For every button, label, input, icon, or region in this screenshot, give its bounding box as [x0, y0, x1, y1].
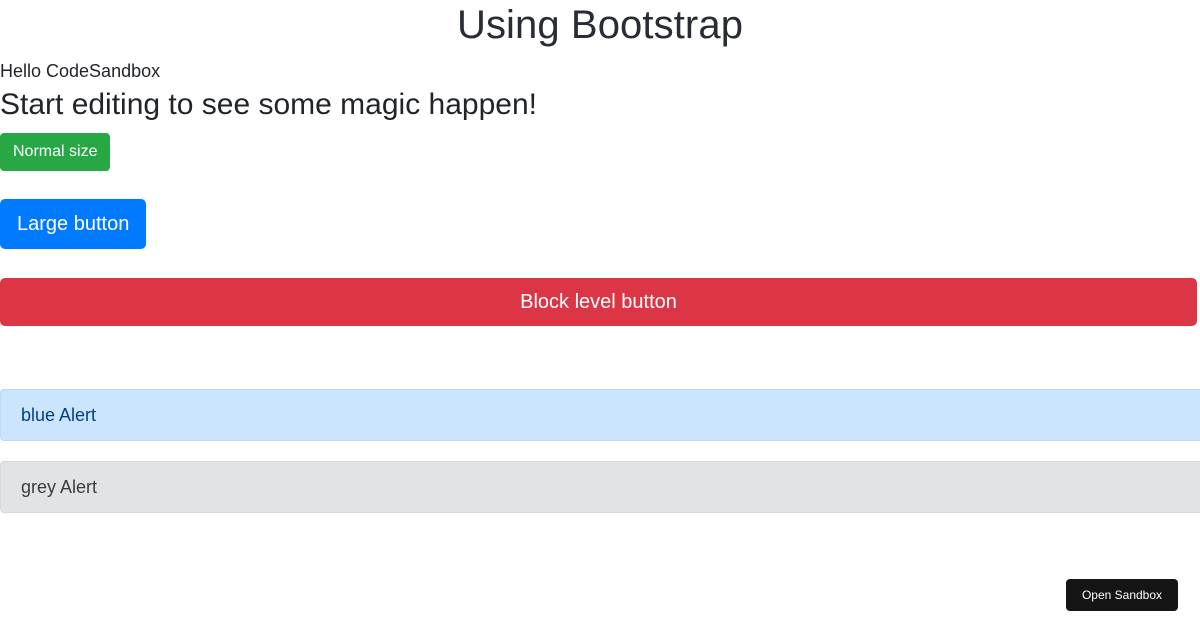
normal-size-button[interactable]: Normal size — [0, 133, 110, 171]
block-level-button[interactable]: Block level button — [0, 278, 1197, 326]
hello-text: Hello CodeSandbox — [0, 60, 160, 82]
alert-grey: grey Alert — [0, 461, 1200, 513]
page-root: Using Bootstrap Hello CodeSandbox Start … — [0, 0, 1200, 630]
subtitle-text: Start editing to see some magic happen! — [0, 87, 537, 123]
alert-blue: blue Alert — [0, 389, 1200, 441]
open-sandbox-button[interactable]: Open Sandbox — [1066, 579, 1178, 611]
alert-grey-label: grey Alert — [21, 476, 97, 498]
large-button[interactable]: Large button — [0, 199, 146, 249]
alert-blue-label: blue Alert — [21, 404, 96, 426]
page-title: Using Bootstrap — [0, 1, 1200, 49]
